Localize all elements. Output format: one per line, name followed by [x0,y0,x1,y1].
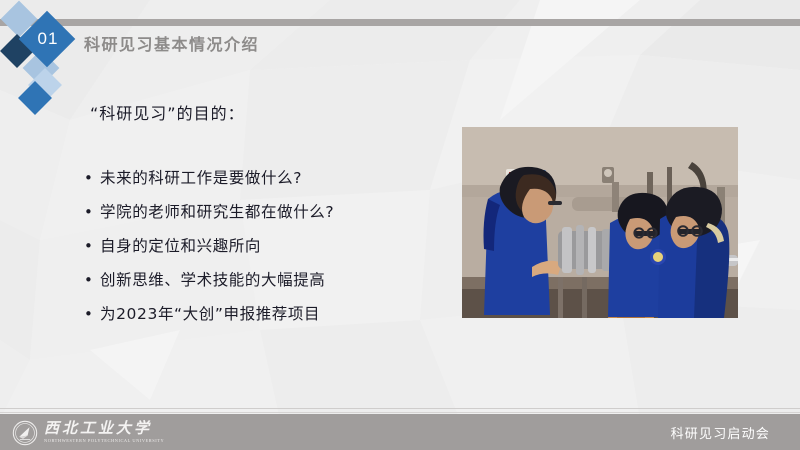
lab-photo-illustration [462,127,738,318]
list-item-label: 为2023年“大创”申报推荐项目 [100,304,320,325]
footer-divider-top [0,408,800,409]
list-item: • 学院的老师和研究生都在做什么? [84,202,444,223]
university-logo-text: 西北工业大学 NORTHWESTERN POLYTECHNICAL UNIVER… [44,421,164,443]
university-name-cn: 西北工业大学 [44,421,164,436]
university-seal-icon [12,420,38,446]
footer-divider-bottom [0,412,800,413]
page-title: 科研见习基本情况介绍 [84,31,259,55]
bullet-dot-icon: • [84,202,100,222]
footer-event-label: 科研见习启动会 [671,423,770,442]
bullet-dot-icon: • [84,270,100,290]
lab-photo [462,127,738,318]
header-accent-bar [0,19,800,26]
list-item-label: 自身的定位和兴趣所向 [100,236,261,257]
bullet-dot-icon: • [84,168,100,188]
lead-statement: “科研见习”的目的： [90,100,245,124]
list-item: • 创新思维、学术技能的大幅提高 [84,270,444,291]
bullet-dot-icon: • [84,236,100,256]
section-number-label: 01 [28,22,68,56]
section-diamond-cluster: 01 [0,0,90,112]
list-item-label: 未来的科研工作是要做什么? [100,168,302,189]
list-item-label: 学院的老师和研究生都在做什么? [100,202,334,223]
university-name-en: NORTHWESTERN POLYTECHNICAL UNIVERSITY [44,439,164,443]
list-item-label: 创新思维、学术技能的大幅提高 [100,270,325,291]
presentation-slide: 01 科研见习基本情况介绍 “科研见习”的目的： • 未来的科研工作是要做什么?… [0,0,800,450]
university-logo: 西北工业大学 NORTHWESTERN POLYTECHNICAL UNIVER… [12,419,164,446]
list-item: • 未来的科研工作是要做什么? [84,168,444,189]
list-item: • 为2023年“大创”申报推荐项目 [84,304,444,325]
list-item: • 自身的定位和兴趣所向 [84,236,444,257]
bullet-list: • 未来的科研工作是要做什么? • 学院的老师和研究生都在做什么? • 自身的定… [84,168,444,338]
bullet-dot-icon: • [84,304,100,324]
